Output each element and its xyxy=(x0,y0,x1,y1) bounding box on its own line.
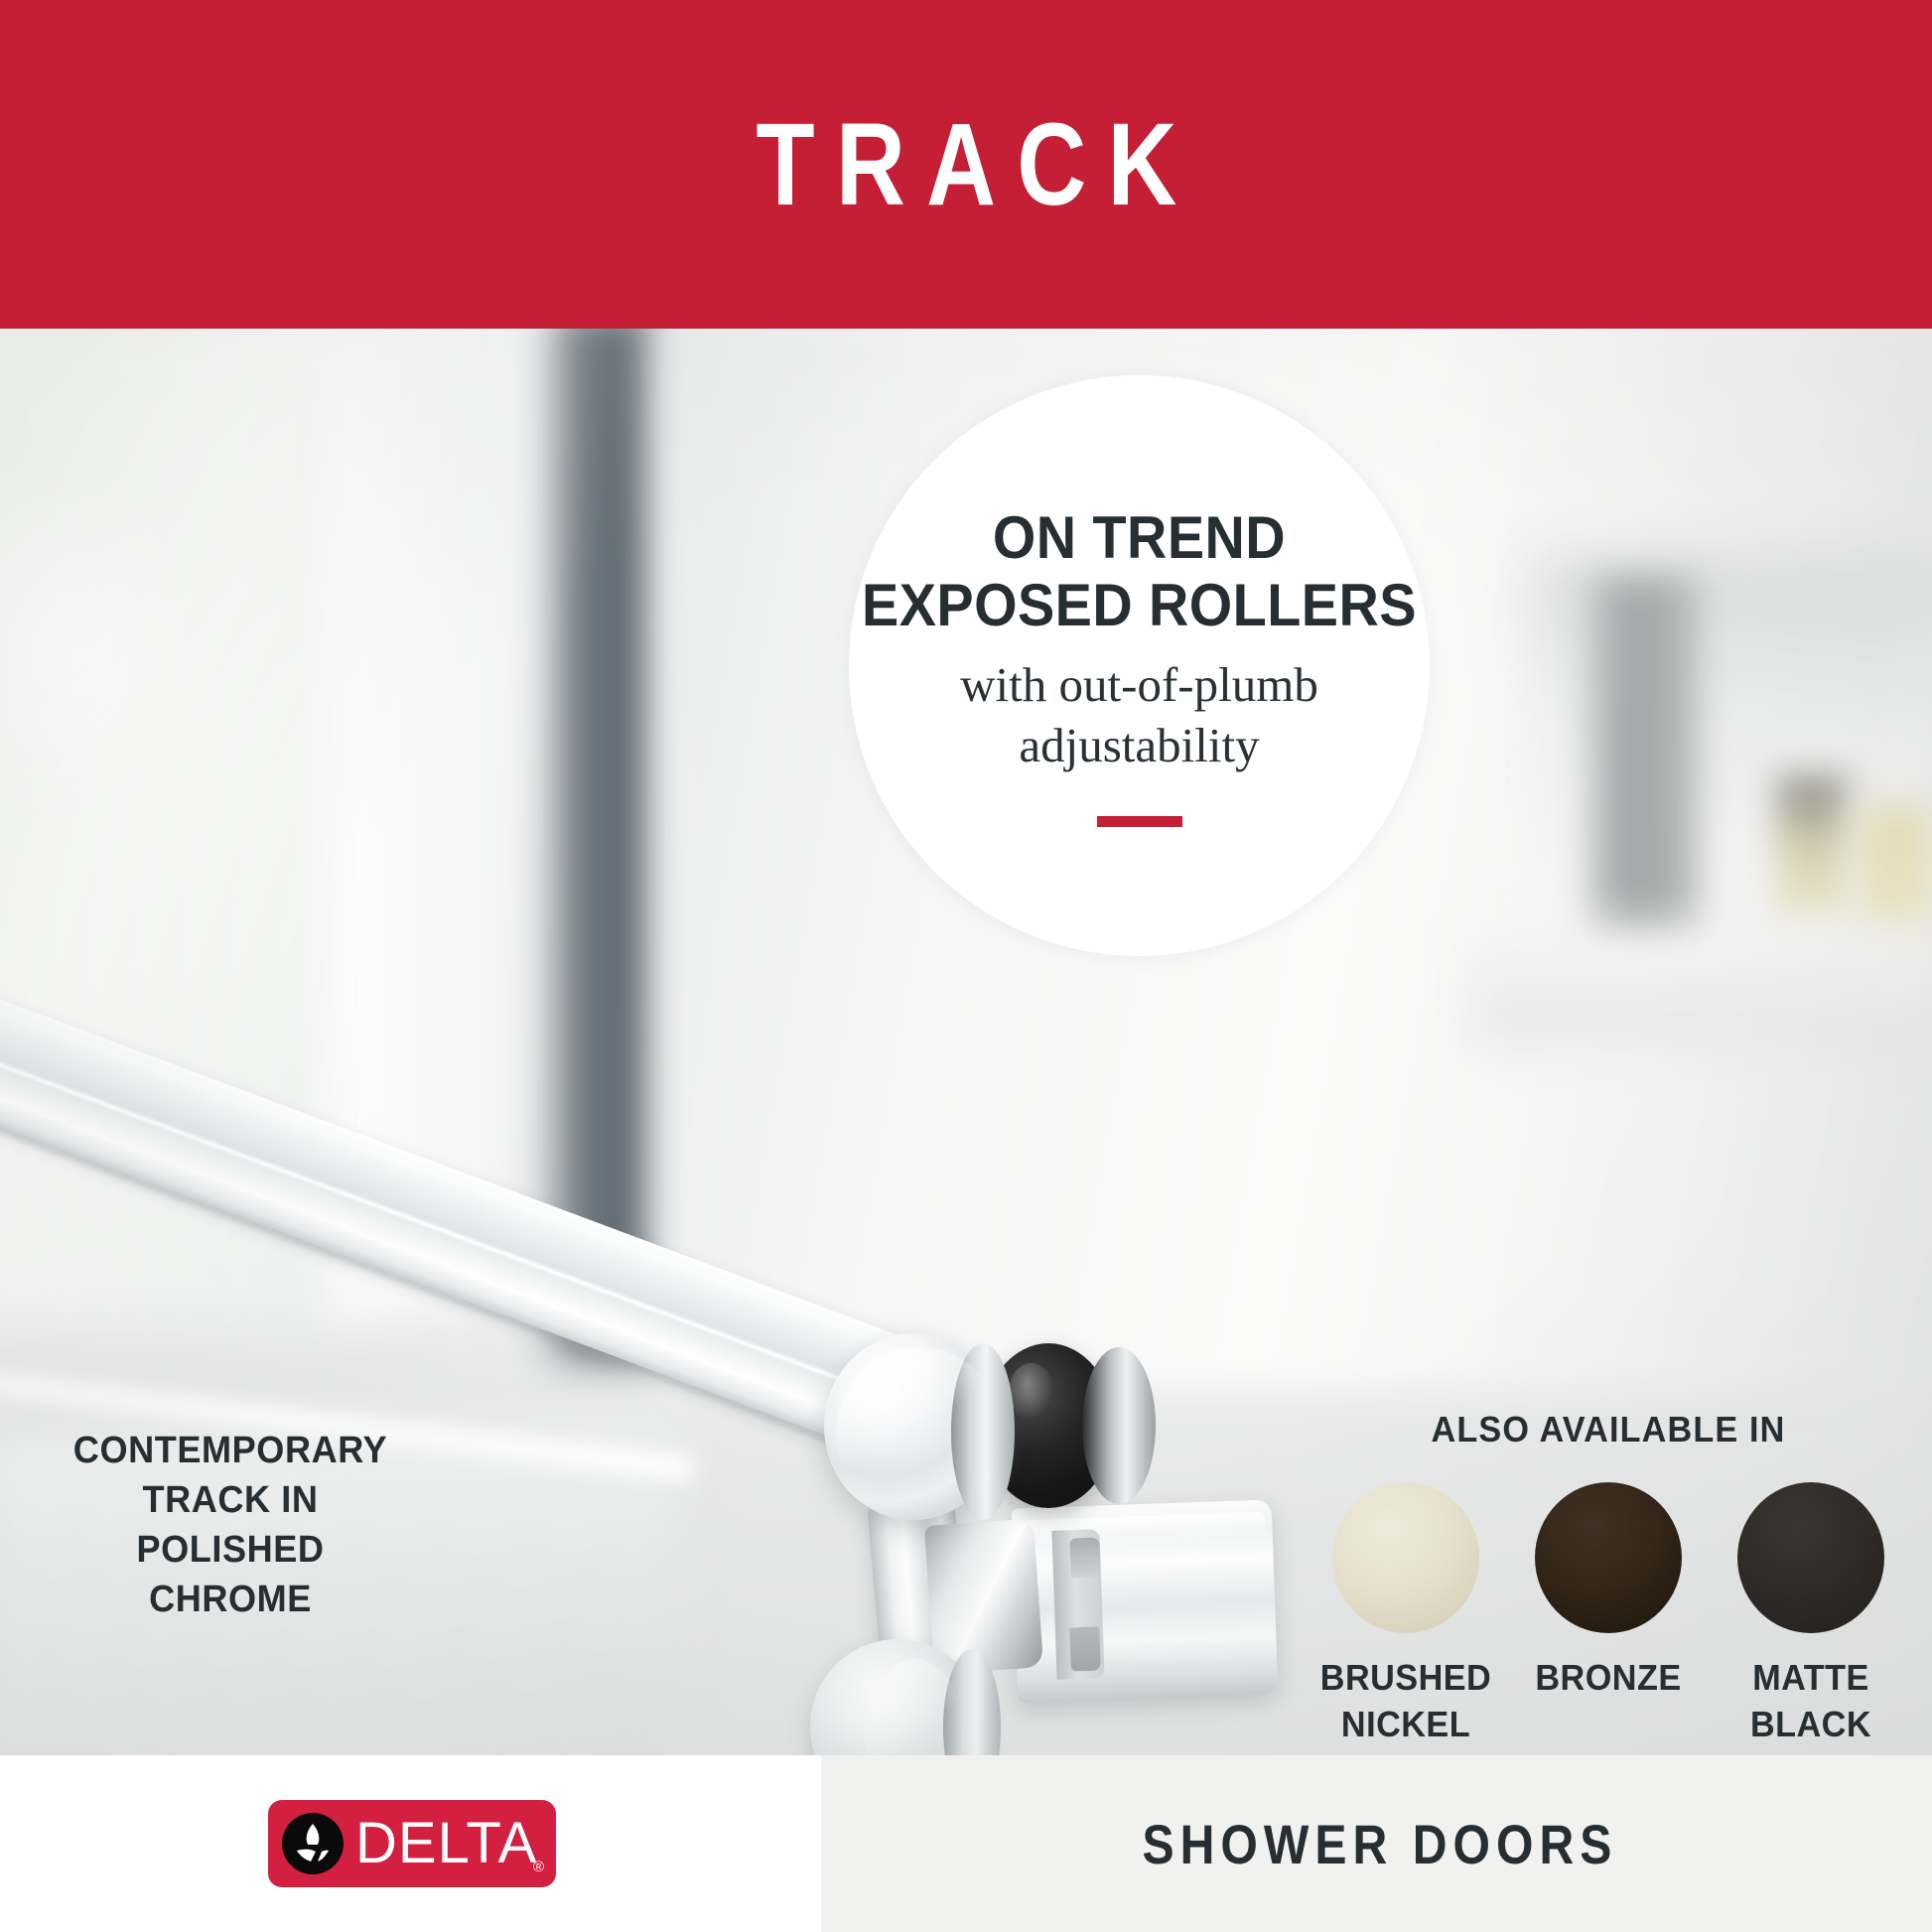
footer-tagline-area: SHOWER DOORS xyxy=(821,1755,1932,1932)
swatch-label-line-2: NICKEL xyxy=(1341,1704,1470,1744)
swatch-bronze[interactable] xyxy=(1535,1482,1682,1633)
product-photo: ON TREND EXPOSED ROLLERS with out-of-plu… xyxy=(0,329,1932,1755)
swatch-matte-black[interactable] xyxy=(1737,1482,1884,1633)
swatch-label-bronze: BRONZE xyxy=(1523,1655,1695,1702)
badge-subhead-line-2: adjustability xyxy=(1019,718,1259,772)
badge-headline: ON TREND EXPOSED ROLLERS xyxy=(862,504,1417,640)
finish-swatch-row: BRUSHED NICKEL BRONZE MATTE BLACK xyxy=(1315,1482,1901,1748)
swatch-label-brushed-nickel: BRUSHED NICKEL xyxy=(1320,1655,1492,1748)
swatch-brushed-nickel[interactable] xyxy=(1332,1482,1479,1633)
product-caption-line-2: TRACK IN POLISHED xyxy=(136,1479,324,1571)
feature-callout-badge: ON TREND EXPOSED ROLLERS with out-of-plu… xyxy=(849,375,1430,956)
badge-subhead: with out-of-plumb adjustability xyxy=(960,654,1318,776)
finish-option-brushed-nickel[interactable]: BRUSHED NICKEL xyxy=(1315,1482,1496,1748)
footer-tagline: SHOWER DOORS xyxy=(1136,1812,1617,1876)
swatch-label-line-1: BRUSHED xyxy=(1320,1657,1491,1698)
badge-headline-line-2: EXPOSED ROLLERS xyxy=(862,572,1417,638)
finish-option-bronze[interactable]: BRONZE xyxy=(1518,1482,1699,1702)
delta-logo[interactable]: DELTA ® xyxy=(268,1800,556,1887)
delta-trillium-glyph xyxy=(291,1821,335,1866)
registered-mark-icon: ® xyxy=(533,1859,544,1875)
badge-headline-line-1: ON TREND xyxy=(993,504,1286,571)
footer-bar: DELTA ® SHOWER DOORS xyxy=(0,1755,1932,1932)
swatch-label-line-1: BRONZE xyxy=(1535,1657,1681,1698)
available-finishes: ALSO AVAILABLE IN BRUSHED NICKEL BRONZE xyxy=(1315,1409,1901,1748)
page-title: TRACK xyxy=(735,106,1198,223)
finishes-title: ALSO AVAILABLE IN xyxy=(1330,1409,1887,1450)
delta-wordmark: DELTA xyxy=(355,1815,537,1872)
footer-brand-area: DELTA ® xyxy=(0,1755,821,1932)
swatch-label-line-2: BLACK xyxy=(1750,1704,1871,1744)
product-caption-line-1: CONTEMPORARY xyxy=(73,1430,387,1471)
badge-divider-rule xyxy=(1097,816,1182,827)
product-marketing-card: TRACK xyxy=(0,0,1932,1932)
swatch-label-matte-black: MATTE BLACK xyxy=(1725,1655,1897,1748)
header-banner: TRACK xyxy=(0,0,1932,329)
product-caption: CONTEMPORARY TRACK IN POLISHED CHROME xyxy=(50,1426,412,1625)
swatch-label-line-1: MATTE xyxy=(1752,1657,1869,1698)
delta-triangle-icon xyxy=(282,1813,344,1874)
finish-option-matte-black[interactable]: MATTE BLACK xyxy=(1721,1482,1901,1748)
product-caption-line-3: CHROME xyxy=(149,1579,312,1620)
badge-subhead-line-1: with out-of-plumb xyxy=(960,657,1318,712)
